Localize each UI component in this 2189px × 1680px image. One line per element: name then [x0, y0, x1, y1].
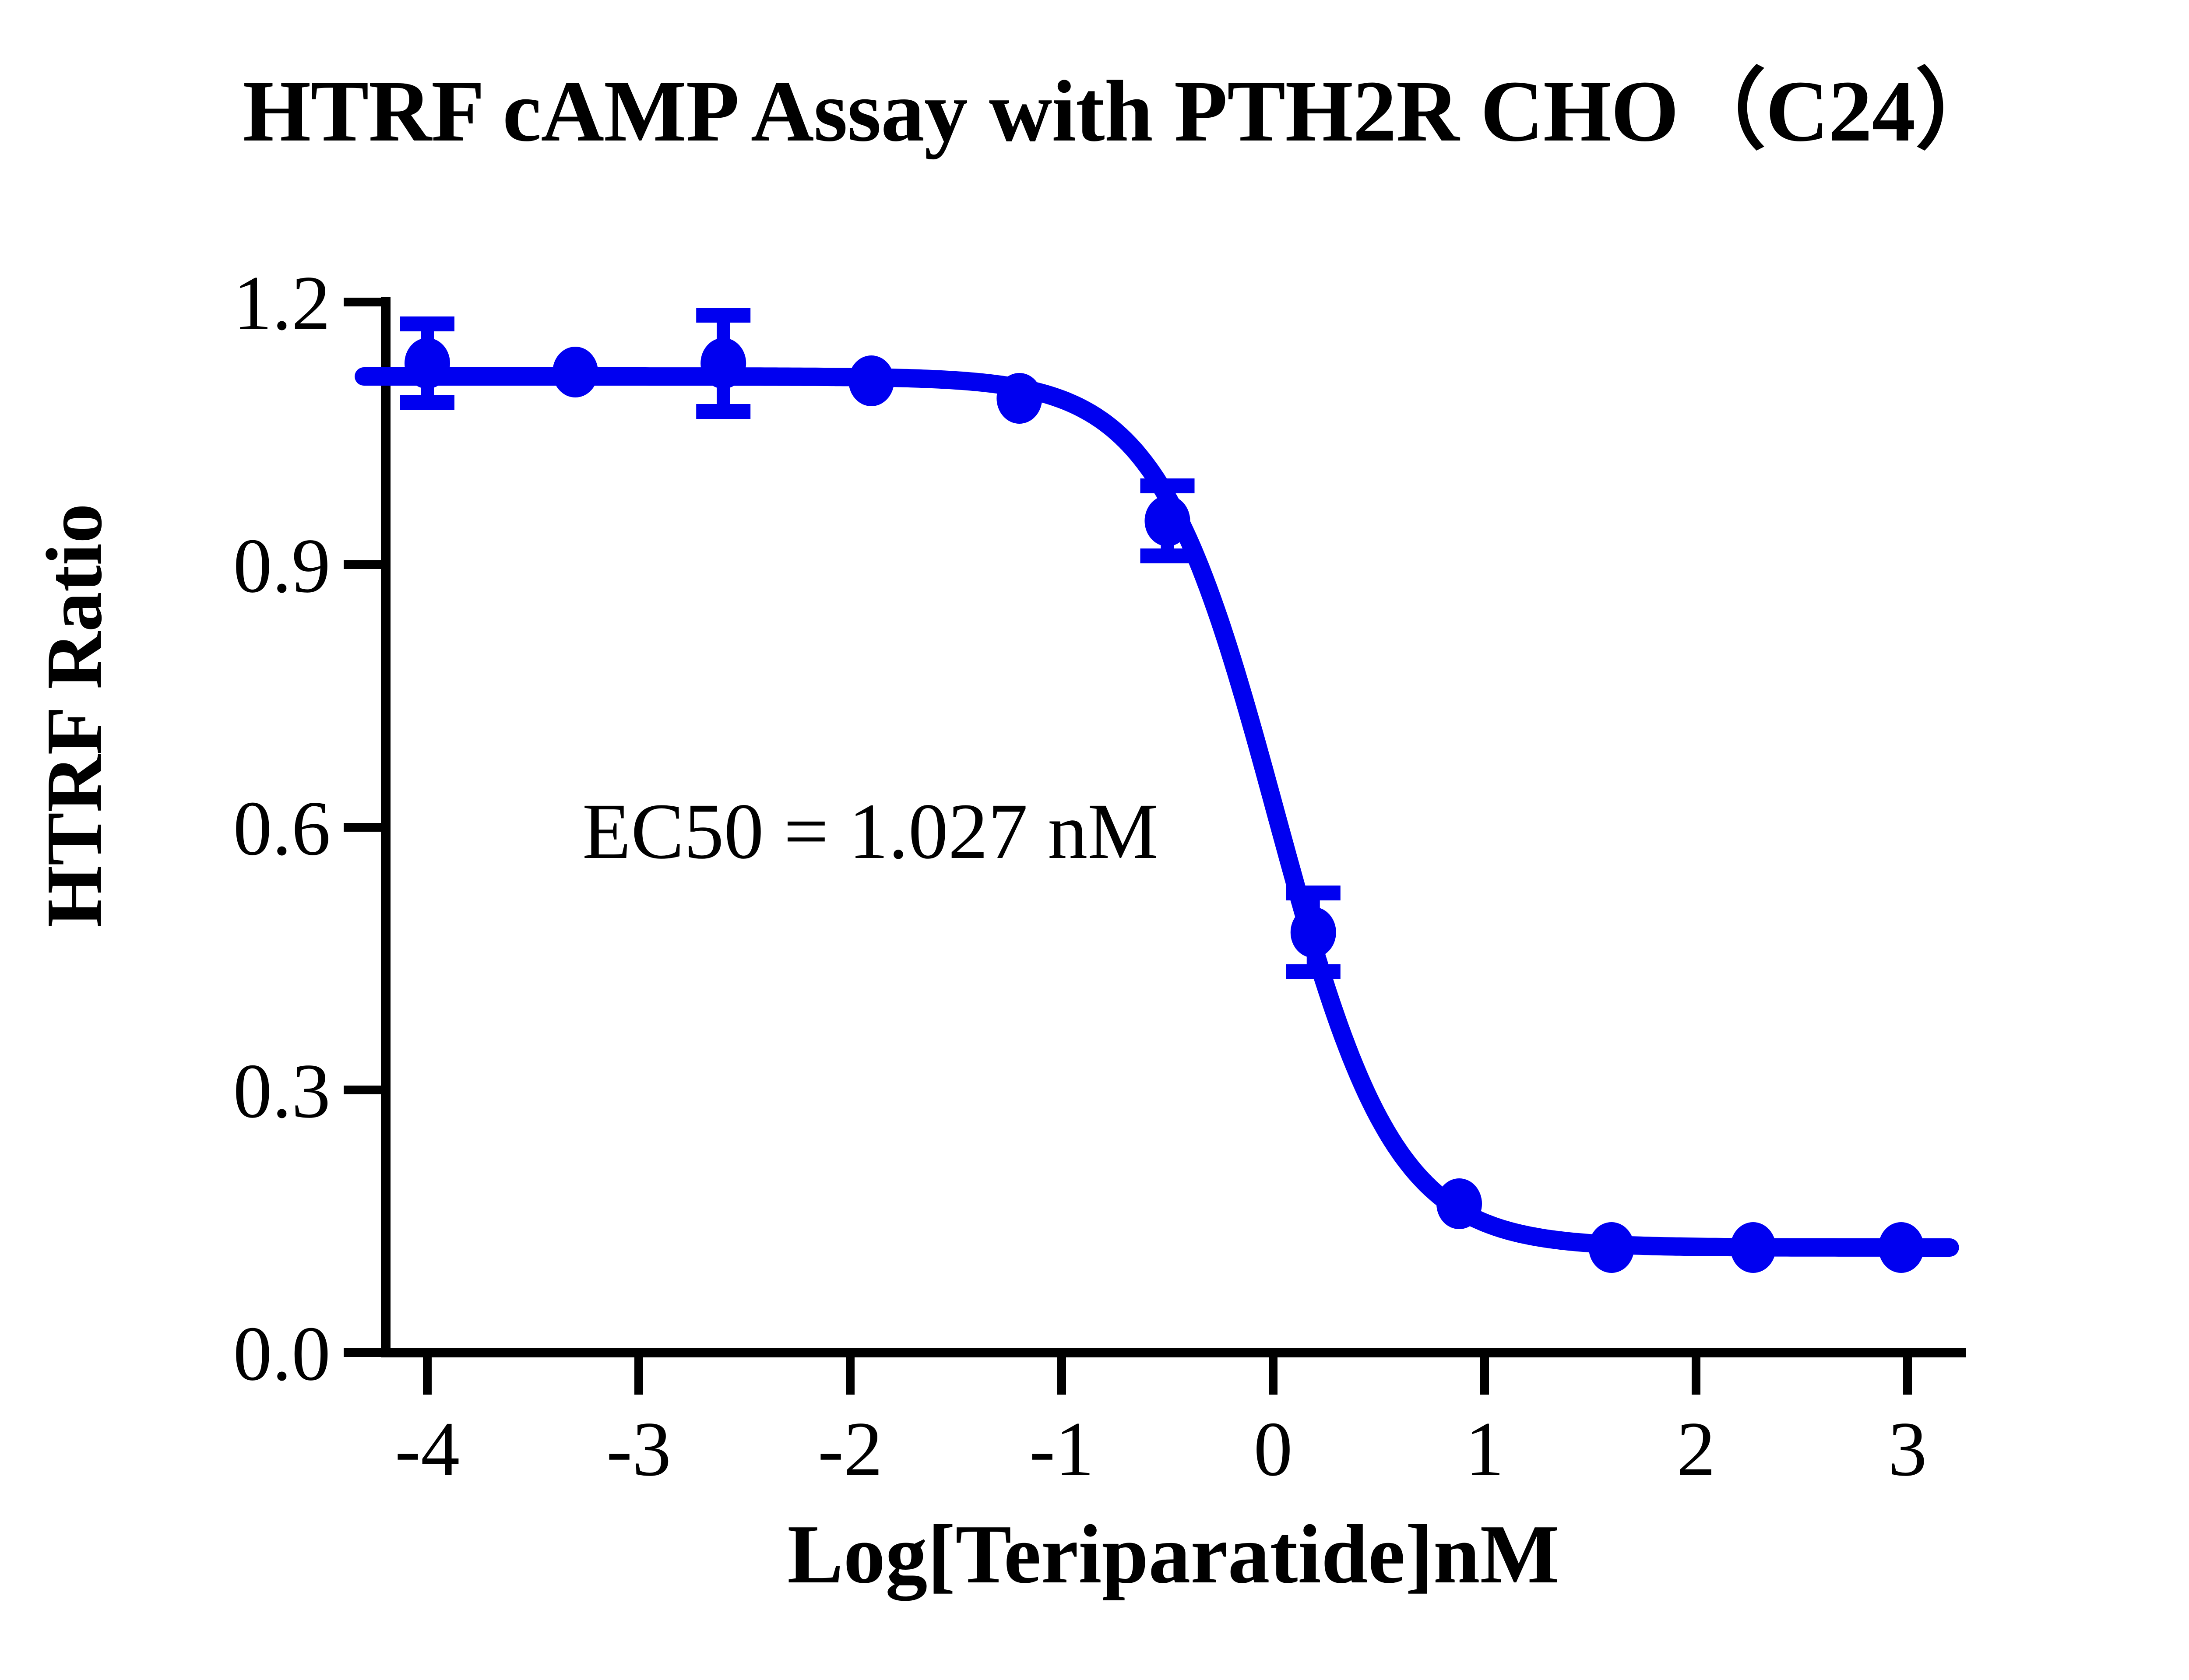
x-tick-marks	[427, 1353, 1907, 1395]
x-tick-labels: -4 -3 -2 -1 0 1 2 3	[395, 1406, 1927, 1492]
data-point	[1589, 1222, 1634, 1273]
y-tick-marks	[344, 302, 386, 1353]
data-point	[700, 338, 746, 389]
x-tick-label: 1	[1465, 1406, 1504, 1492]
x-tick-label: -2	[818, 1406, 883, 1492]
y-tick-label: 0.3	[233, 1047, 331, 1134]
x-tick-label: -3	[606, 1406, 671, 1492]
y-tick-label: 0.6	[233, 785, 331, 872]
y-tick-label: 1.2	[233, 260, 331, 346]
x-tick-label: -4	[395, 1406, 460, 1492]
y-tick-labels: 1.2 0.9 0.6 0.3 0.0	[233, 260, 331, 1397]
data-point	[848, 355, 894, 406]
data-point	[405, 338, 450, 389]
data-point	[1436, 1178, 1482, 1229]
ec50-annotation: EC50 = 1.027 nM	[582, 787, 1158, 875]
data-point	[553, 347, 598, 397]
y-tick-label: 0.0	[233, 1310, 331, 1397]
data-point	[1145, 496, 1190, 546]
data-point	[1291, 907, 1336, 958]
x-tick-label: 0	[1254, 1406, 1293, 1492]
x-tick-label: 3	[1888, 1406, 1927, 1492]
x-tick-label: 2	[1677, 1406, 1716, 1492]
chart-page: HTRF cAMP Assay with PTH2R CHO（C24） HTRF…	[0, 0, 2189, 1680]
x-tick-label: -1	[1029, 1406, 1094, 1492]
data-point	[1879, 1222, 1924, 1273]
data-point	[1730, 1222, 1776, 1273]
plot-area: 1.2 0.9 0.6 0.3 0.0 -4 -3 -2 -1 0 1 2 3	[0, 0, 2189, 1680]
y-tick-label: 0.9	[233, 522, 331, 609]
data-point	[996, 373, 1042, 424]
